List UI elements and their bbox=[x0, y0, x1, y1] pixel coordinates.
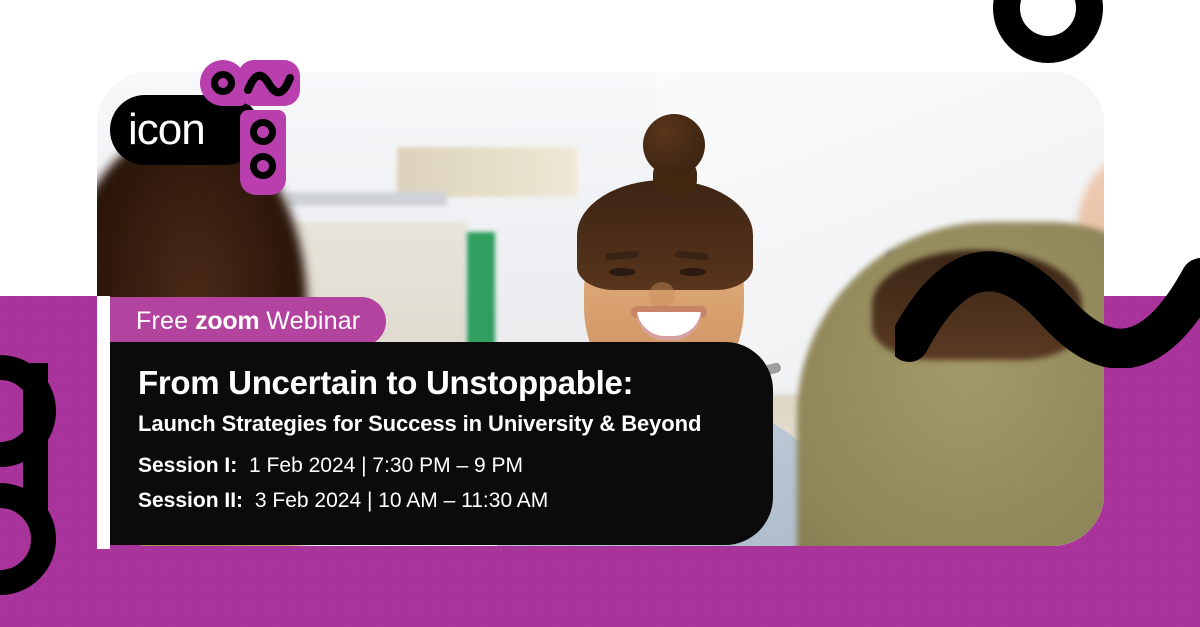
photo-shelf bbox=[287, 192, 447, 206]
webinar-badge: Free zoom Webinar bbox=[110, 297, 386, 346]
promo-banner: icon Free zoom Webinar From Uncertain to… bbox=[0, 0, 1200, 627]
photo-subject-hair bbox=[577, 180, 753, 290]
photo-shelf-props bbox=[397, 147, 577, 197]
logo-ring-inner bbox=[211, 71, 235, 95]
logo-double-ring-mark-icon bbox=[240, 110, 286, 195]
panel-left-sliver bbox=[97, 296, 110, 549]
session-2-label: Session II: bbox=[138, 489, 243, 512]
photo-subject-eye-right bbox=[679, 268, 706, 276]
photo-subject-eye-left bbox=[609, 268, 636, 276]
session-row-1: Session I: 1 Feb 2024 | 7:30 PM – 9 PM bbox=[138, 454, 773, 478]
photo-subject-hair-bun bbox=[643, 114, 705, 176]
logo-double-ring-top bbox=[250, 119, 276, 145]
session-1-details: 1 Feb 2024 | 7:30 PM – 9 PM bbox=[249, 454, 523, 477]
event-subtitle: Launch Strategies for Success in Univers… bbox=[138, 411, 773, 437]
logo-double-ring-bottom bbox=[250, 153, 276, 179]
photo-person-right-hair bbox=[872, 250, 1082, 360]
badge-platform-zoom: zoom bbox=[195, 307, 259, 336]
black-ring-icon bbox=[993, 0, 1103, 63]
session-row-2: Session II: 3 Feb 2024 | 10 AM – 11:30 A… bbox=[138, 489, 773, 513]
black-double-ring-icon bbox=[0, 355, 56, 605]
session-1-label: Session I: bbox=[138, 454, 237, 477]
session-2-details: 3 Feb 2024 | 10 AM – 11:30 AM bbox=[255, 489, 548, 512]
event-title: From Uncertain to Unstoppable: bbox=[138, 364, 773, 402]
logo-wordmark: icon bbox=[128, 106, 205, 154]
event-details-panel: From Uncertain to Unstoppable: Launch St… bbox=[110, 342, 773, 545]
badge-suffix: Webinar bbox=[266, 307, 360, 336]
badge-prefix: Free bbox=[136, 307, 188, 336]
photo-subject-nose bbox=[649, 282, 675, 308]
icon-logo[interactable]: icon bbox=[110, 60, 290, 165]
logo-wave-mark-icon bbox=[238, 60, 300, 106]
